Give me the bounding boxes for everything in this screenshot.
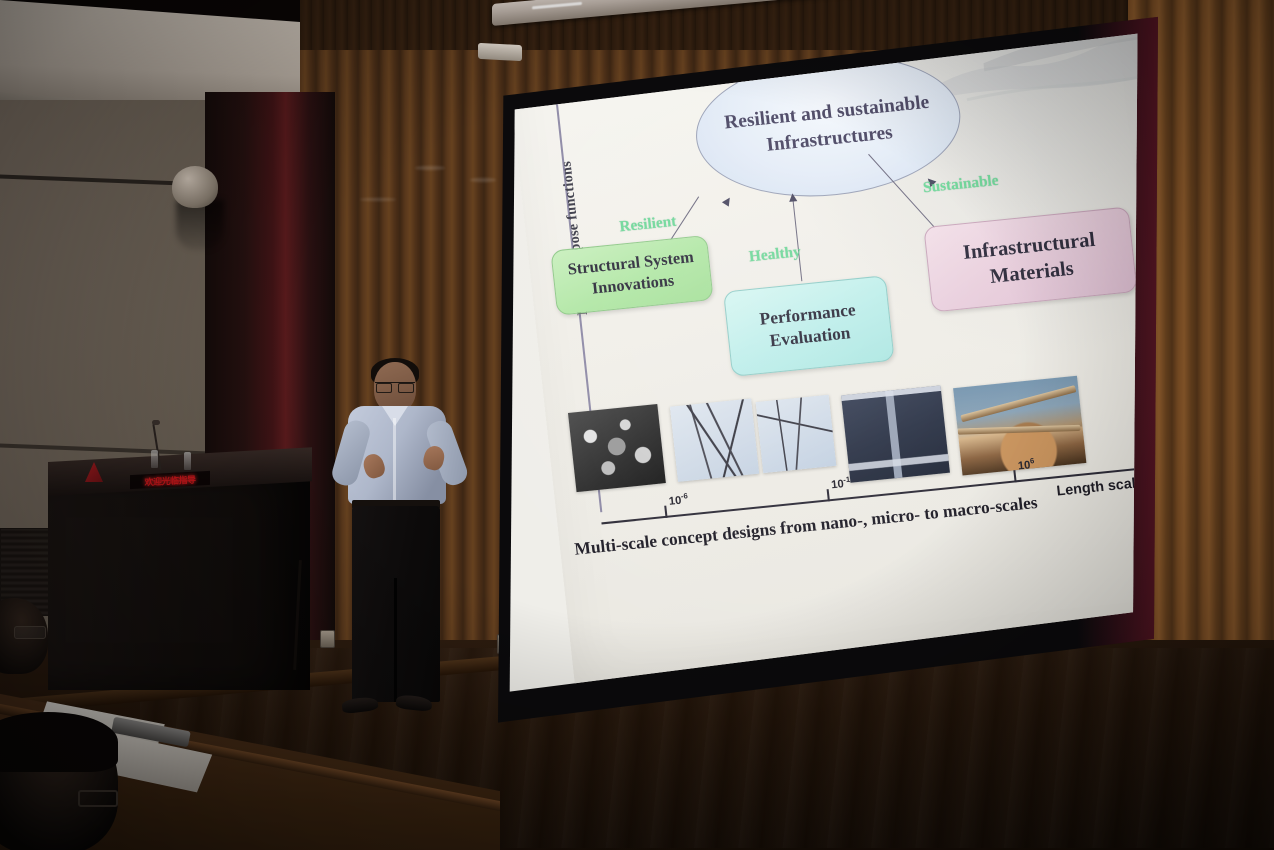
podium-led-text: 欢迎光临指导 (144, 472, 195, 488)
projector-screen-roller-casing[interactable] (492, 0, 1152, 26)
x-tick-label-3: 106 (1017, 456, 1035, 473)
microphone-head (152, 420, 160, 425)
thumbnail-beam-test (841, 385, 950, 482)
slide: 1. Challenges Multi-purpose functions Re… (504, 24, 1142, 701)
thumbnail-fiber-sample-2 (756, 395, 837, 473)
connector-arrowhead-left (722, 195, 733, 206)
x-tick-3 (1013, 470, 1016, 482)
thumbnail-fiber-sample-1 (670, 399, 759, 482)
wall-reflection-1 (415, 166, 445, 170)
x-tick-1 (664, 506, 667, 518)
bridge-deck-lower (958, 425, 1081, 435)
audience-member-1-glasses (14, 626, 46, 639)
x-tick-exp-2: -1 (843, 475, 851, 485)
roller-glint-1 (532, 2, 582, 10)
water-bottle-2 (184, 452, 191, 470)
edge-label-healthy: Healthy (748, 244, 801, 266)
connector-performance-to-center (792, 196, 802, 281)
thumbnail-sem-micrograph (568, 404, 666, 492)
presenter (330, 358, 480, 730)
lecture-hall-photo: 欢迎光临指导 (0, 0, 1274, 850)
wall-speaker (172, 166, 218, 208)
slide-title: 1. Challenges (536, 31, 674, 71)
presenter-shirt-placket (393, 418, 396, 502)
podium (48, 470, 310, 690)
concept-box-performance-evaluation[interactable]: Performance Evaluation (723, 275, 895, 377)
x-tick-exp-1: -6 (680, 491, 688, 501)
edge-label-resilient: Resilient (619, 213, 678, 236)
y-axis-label: Multi-purpose functions (555, 126, 595, 351)
connector-arrowhead-middle (788, 193, 797, 202)
projector-screen-assembly: 1. Challenges Multi-purpose functions Re… (478, 0, 1178, 740)
water-bottle-1 (151, 450, 158, 468)
x-tick-label-2: 10-1 (830, 475, 851, 492)
x-tick-2 (827, 489, 830, 501)
wall-reflection-2 (360, 198, 396, 201)
presenter-left-shoe (341, 696, 378, 714)
projector-screen-surface: 1. Challenges Multi-purpose functions Re… (502, 24, 1142, 708)
concept-box-infrastructural-materials[interactable]: Infrastructural Materials (923, 206, 1137, 312)
audience-member-2-glasses (78, 790, 118, 807)
edge-label-sustainable: Sustainable (922, 173, 999, 198)
bridge-deck-upper (960, 385, 1076, 422)
x-tick-exp-3: 6 (1030, 456, 1035, 466)
presenter-glasses (375, 382, 415, 391)
presenter-leg-separation (394, 578, 397, 702)
x-tick-label-1: 10-6 (668, 491, 689, 508)
